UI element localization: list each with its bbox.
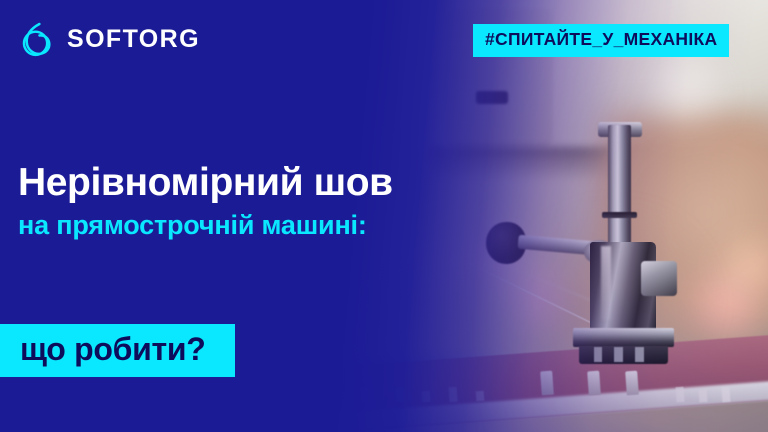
headline-primary: Нерівномірний шов	[18, 163, 488, 204]
promo-banner: SOFTORG #СПИТАЙТЕ_У_МЕХАНІКА Нерівномірн…	[0, 0, 768, 432]
headline-block: Нерівномірний шов на прямострочній машин…	[18, 163, 488, 242]
cta-label: що робити?	[20, 331, 205, 367]
brand-wordmark: SOFTORG	[67, 27, 200, 52]
brand-logo[interactable]: SOFTORG	[18, 20, 200, 58]
hashtag-badge[interactable]: #СПИТАЙТЕ_У_МЕХАНІКА	[473, 24, 729, 57]
cta-highlight-box[interactable]: що робити?	[0, 324, 235, 377]
headline-secondary: на прямострочній машині:	[18, 210, 488, 242]
softorg-b-loop-logo-icon	[18, 20, 56, 58]
